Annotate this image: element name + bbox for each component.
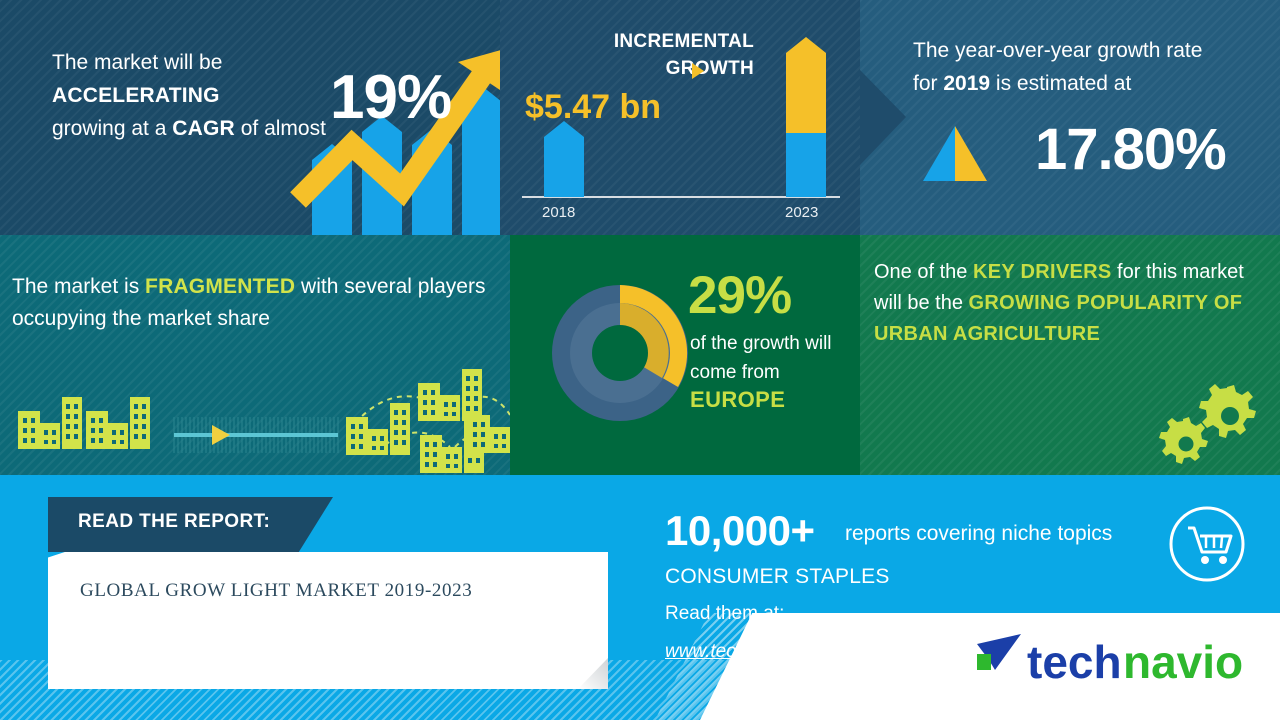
reports-description: reports covering niche topics [845, 522, 1112, 546]
city-cluster-left-2 [86, 397, 150, 449]
yoy-line2-post: is estimated at [990, 72, 1131, 95]
panel-yoy-growth: The year-over-year growth rate for 2019 … [860, 0, 1280, 235]
shopping-cart-icon[interactable] [1168, 505, 1246, 583]
technavio-logo: tech navio [975, 630, 1250, 692]
fragmented-market-graphic [0, 355, 510, 475]
bar-2018 [544, 121, 584, 197]
yoy-line1: The year-over-year growth rate [913, 39, 1202, 62]
incremental-growth-value: $5.47 bn [525, 88, 661, 127]
cagr-line2-post: of almost [235, 117, 326, 140]
drivers-bold1: KEY DRIVERS [973, 261, 1112, 283]
incremental-growth-title: INCREMENTAL GROWTH [524, 28, 754, 82]
incr-title-line2: GROWTH [666, 58, 754, 79]
cagr-line1-bold: ACCELERATING [52, 84, 220, 107]
axis-label-2023: 2023 [785, 204, 818, 221]
europe-share-caption: of the growth will come from [690, 329, 860, 387]
report-title-card[interactable] [48, 552, 608, 689]
bar-2023-increment [786, 37, 826, 133]
cagr-line2-pre: growing at a [52, 117, 172, 140]
reports-category: CONSUMER STAPLES [665, 565, 890, 589]
cagr-line1-pre: The market will be [52, 51, 222, 74]
panel-cagr: The market will be ACCELERATING growing … [0, 0, 500, 235]
europe-share-region: EUROPE [690, 387, 785, 413]
yoy-line2-pre: for [913, 72, 943, 95]
panel-fragmented: The market is FRAGMENTED with several pl… [0, 235, 510, 475]
reports-count: 10,000+ [665, 507, 815, 555]
yoy-line2-bold: 2019 [943, 72, 990, 95]
frag-bold: FRAGMENTED [145, 275, 295, 298]
donut-hole [592, 325, 648, 381]
panel-chevron-divider [860, 0, 908, 235]
incr-title-line1: INCREMENTAL [614, 31, 754, 52]
logo-text-tech: tech [1027, 636, 1122, 688]
fragmented-statement: The market is FRAGMENTED with several pl… [12, 271, 492, 335]
gears-icon [1155, 375, 1265, 470]
read-the-report-label: READ THE REPORT: [78, 511, 270, 533]
key-drivers-statement: One of the KEY DRIVERS for this market w… [874, 257, 1254, 350]
logo-text-navio: navio [1123, 636, 1243, 688]
city-cluster-left-1 [18, 397, 82, 449]
europe-share-donut-chart [530, 263, 710, 443]
axis-label-2018: 2018 [542, 204, 575, 221]
read-the-report-tab: READ THE REPORT: [48, 497, 333, 552]
drivers-pre: One of the [874, 261, 973, 283]
panel-incremental-growth: INCREMENTAL GROWTH $5.47 bn 2018 2023 [500, 0, 860, 235]
yoy-statement: The year-over-year growth rate for 2019 … [913, 34, 1253, 100]
transition-arrow [172, 417, 340, 453]
report-title: GLOBAL GROW LIGHT MARKET 2019-2023 [80, 580, 472, 602]
europe-share-percent: 29% [688, 265, 791, 326]
cagr-line2-bold: CAGR [172, 117, 235, 140]
city-cluster-right-1 [346, 403, 410, 455]
infographic-root: The market will be ACCELERATING growing … [0, 0, 1280, 720]
yoy-value: 17.80% [1035, 116, 1226, 183]
cagr-value: 19% [330, 62, 451, 133]
play-triangle-icon [692, 63, 704, 79]
bar-2023-base [786, 133, 826, 197]
city-cluster-right-2 [418, 369, 482, 421]
panel-regional-share: 29% of the growth will come from EUROPE [510, 235, 860, 475]
growth-triangle-icon [915, 126, 995, 181]
frag-pre: The market is [12, 275, 145, 298]
